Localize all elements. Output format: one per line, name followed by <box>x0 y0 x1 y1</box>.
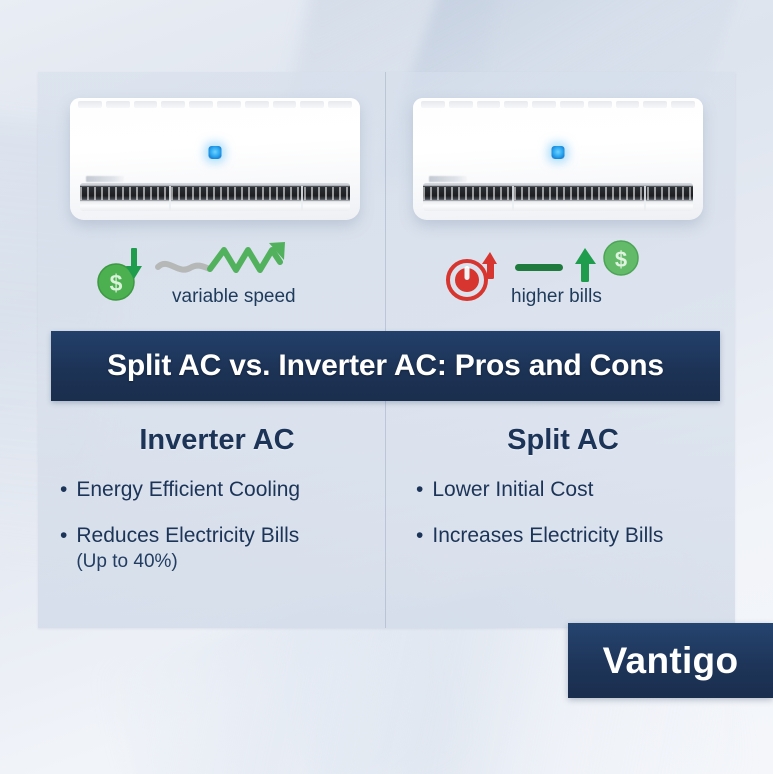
bullet-body: Reduces Electricity Bills (Up to 40%) <box>76 523 374 574</box>
bullet-marker-icon: • <box>416 477 423 503</box>
bullet-subtext: (Up to 40%) <box>76 551 177 572</box>
split-feature-caption: higher bills <box>511 286 602 308</box>
comparison-column-inverter: Inverter AC • Energy Efficient Cooling •… <box>38 410 386 628</box>
page-title: Split AC vs. Inverter AC: Pros and Cons <box>107 349 664 383</box>
bullet-marker-icon: • <box>416 523 423 549</box>
bullet-body: Increases Electricity Bills <box>432 523 722 549</box>
ac-brand-wordmark <box>429 176 467 182</box>
ac-air-louvers <box>423 183 693 211</box>
dollar-down-wave-icon: $ variable speed <box>86 240 386 310</box>
split-pros-list: • Lower Initial Cost • Increases Electri… <box>416 477 722 549</box>
bullet-text: Reduces Electricity Bills <box>76 524 299 547</box>
bullet-text: Lower Initial Cost <box>432 478 593 501</box>
infographic-canvas: $ variable speed <box>0 0 773 774</box>
inverter-feature-icon-row: $ variable speed <box>86 240 386 310</box>
bullet-text: Increases Electricity Bills <box>432 524 663 547</box>
ac-top-vent-slots <box>421 98 695 111</box>
inverter-feature-caption: variable speed <box>172 286 296 308</box>
split-feature-icon-row: $ higher bills <box>433 240 733 310</box>
ac-air-louvers <box>80 183 350 211</box>
list-item: • Increases Electricity Bills <box>416 523 722 549</box>
ac-power-led-icon <box>552 146 565 159</box>
comparison-columns: Inverter AC • Energy Efficient Cooling •… <box>38 410 735 628</box>
svg-text:$: $ <box>110 270 123 296</box>
ac-brand-wordmark <box>86 176 124 182</box>
comparison-column-split: Split AC • Lower Initial Cost • Increase… <box>386 410 734 628</box>
bullet-marker-icon: • <box>60 523 67 549</box>
bullet-text: Energy Efficient Cooling <box>76 478 300 501</box>
brand-badge: Vantigo <box>568 623 773 698</box>
list-item: • Reduces Electricity Bills (Up to 40%) <box>60 523 374 574</box>
bullet-body: Lower Initial Cost <box>432 477 722 503</box>
list-item: • Energy Efficient Cooling <box>60 477 374 503</box>
ac-power-led-icon <box>209 146 222 159</box>
ac-units-row: $ variable speed <box>38 72 735 322</box>
bullet-marker-icon: • <box>60 477 67 503</box>
column-heading-split: Split AC <box>404 424 722 457</box>
svg-text:$: $ <box>615 247 627 272</box>
ac-top-vent-slots <box>78 98 352 111</box>
split-ac-product-image <box>413 98 703 220</box>
power-up-dollar-icon: $ higher bills <box>433 240 733 310</box>
inverter-pros-list: • Energy Efficient Cooling • Reduces Ele… <box>60 477 374 574</box>
bullet-body: Energy Efficient Cooling <box>76 477 374 503</box>
list-item: • Lower Initial Cost <box>416 477 722 503</box>
column-heading-inverter: Inverter AC <box>60 424 374 457</box>
inverter-ac-product-image <box>70 98 360 220</box>
brand-name: Vantigo <box>603 640 739 682</box>
title-banner: Split AC vs. Inverter AC: Pros and Cons <box>51 331 720 401</box>
